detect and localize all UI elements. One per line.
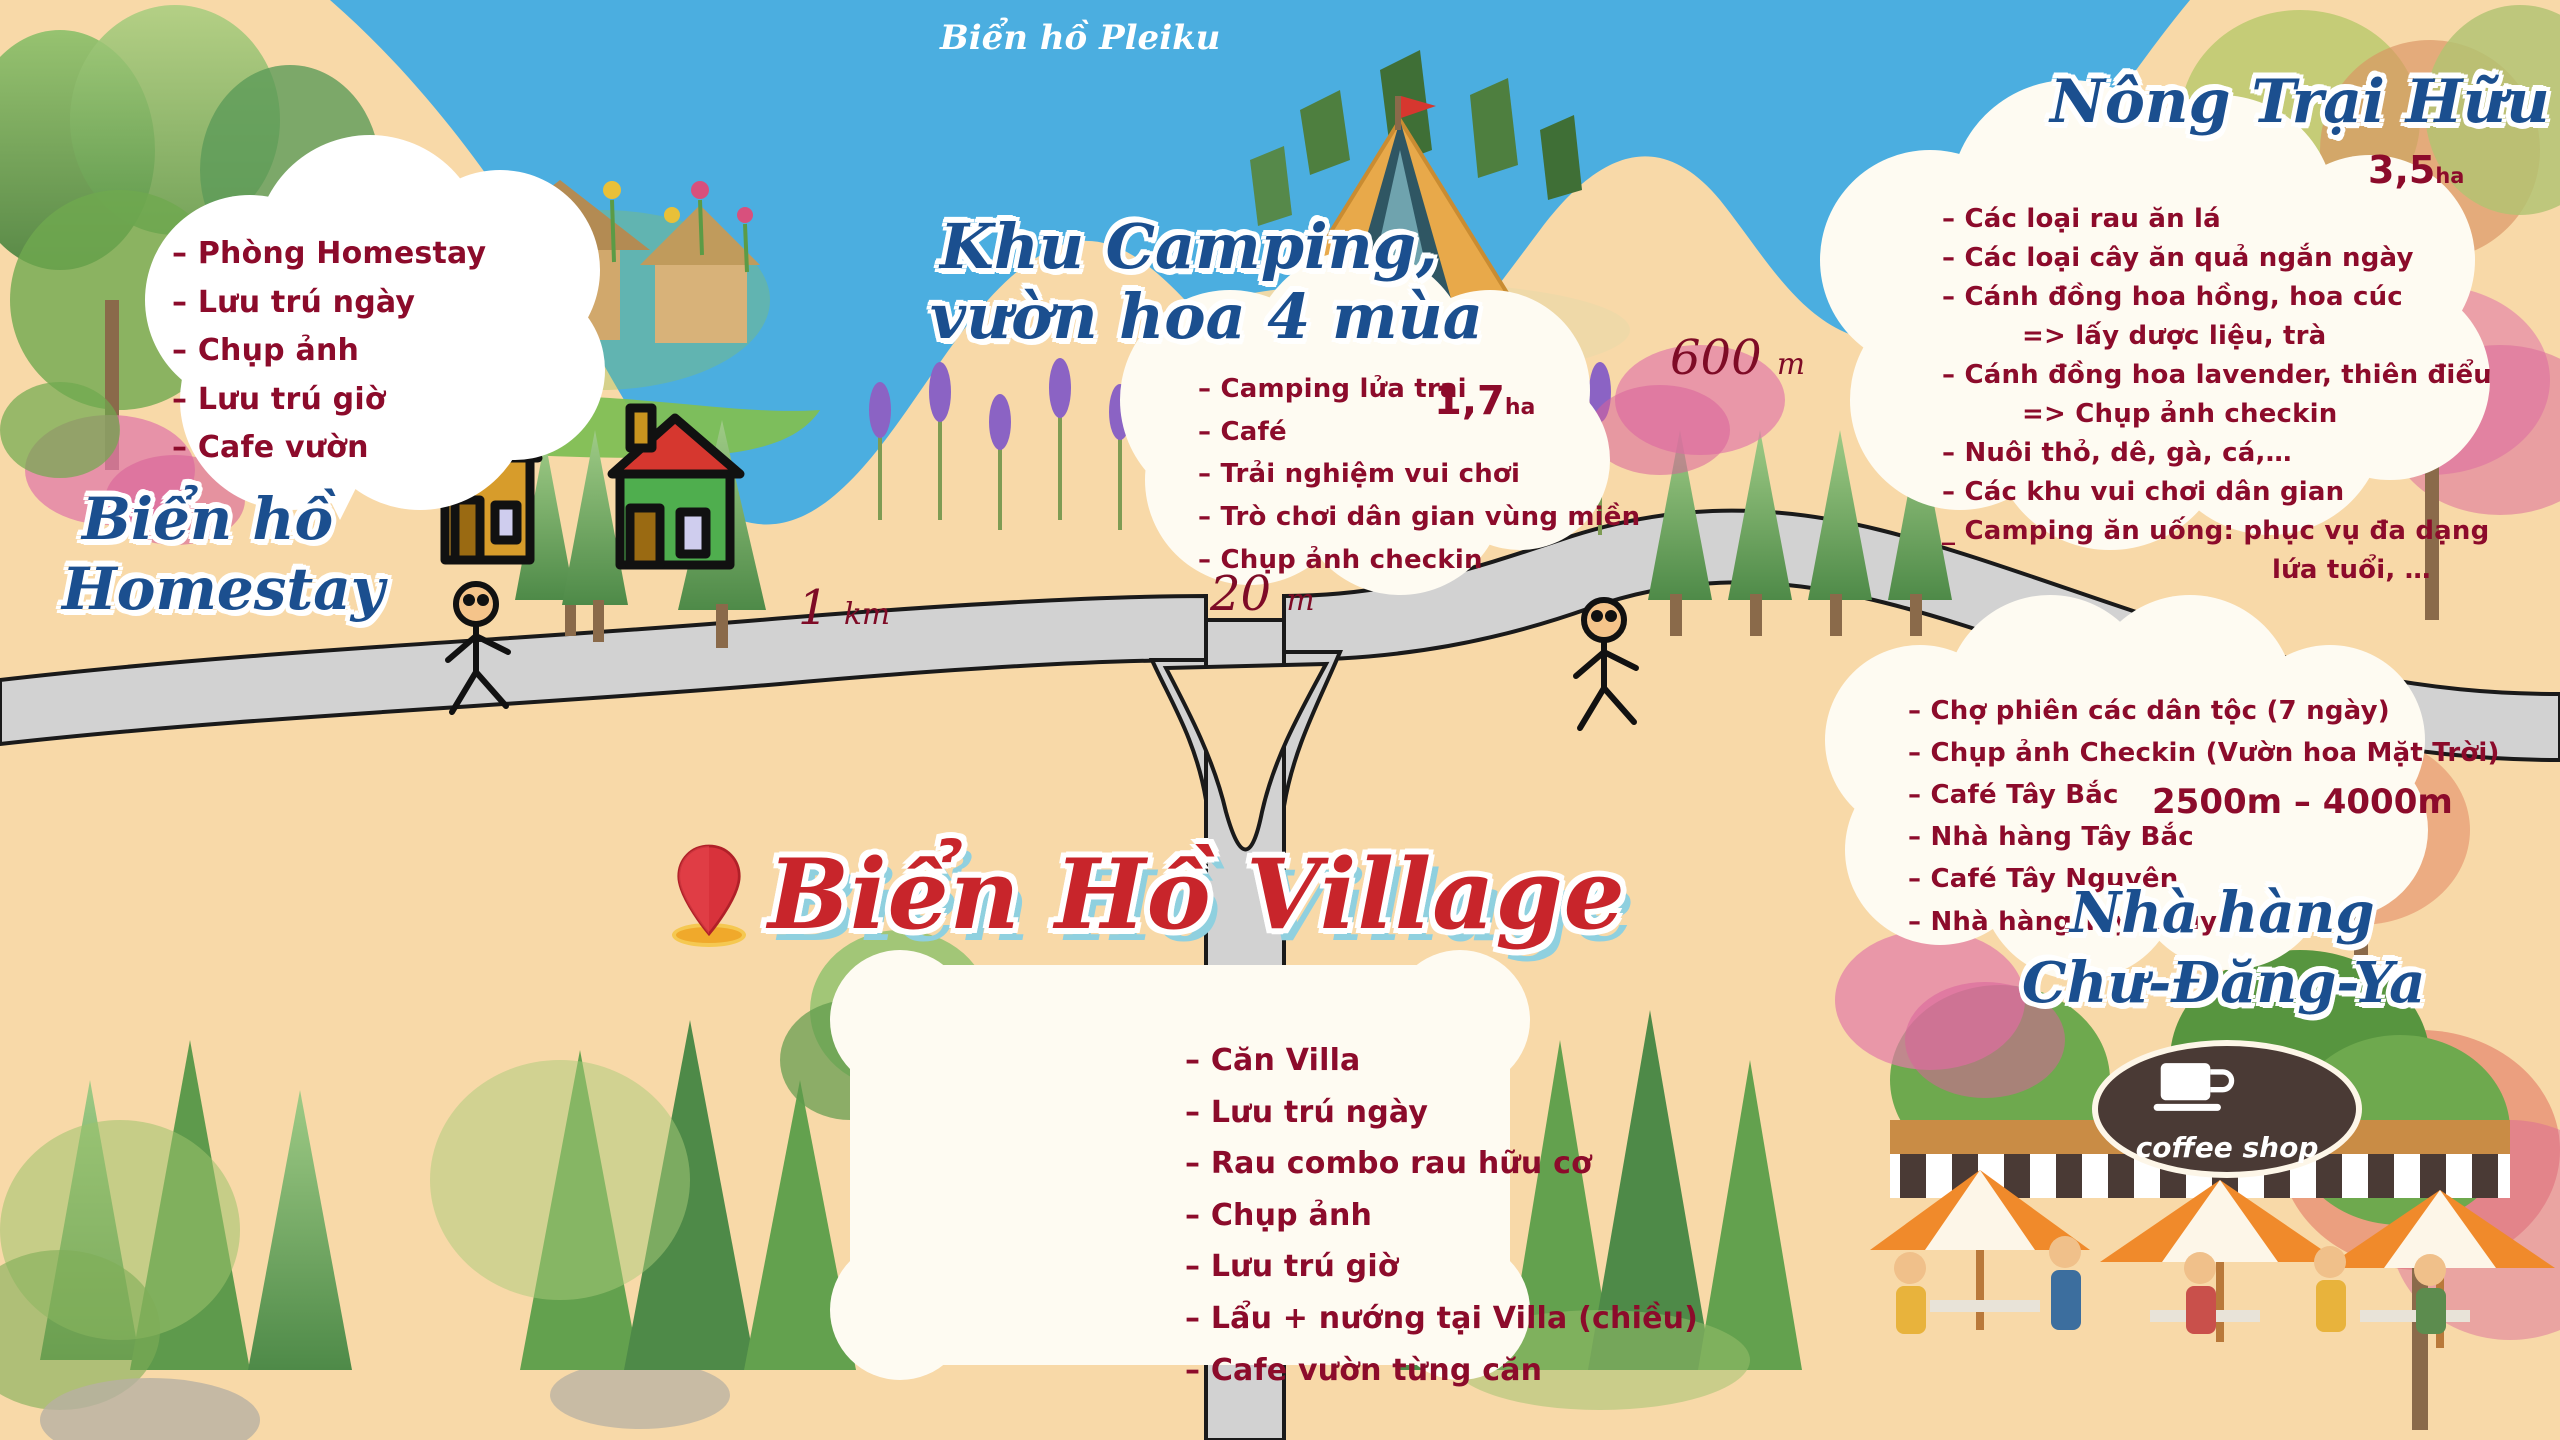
restaurant-title-line1: Nhà hàng [2070, 885, 2375, 942]
homestay-title-line1: Biển hồ [82, 490, 333, 549]
distance-600m-unit: m [1777, 347, 1805, 382]
farm-item-list: – Các loại rau ăn lá – Các loại cây ăn q… [1942, 200, 2492, 590]
camping-title-line2: vườn hoa 4 mùa [930, 285, 1483, 348]
distance-1km-unit: km [844, 597, 890, 632]
list-item: – Nuôi thỏ, dê, gà, cá,… [1942, 434, 2492, 473]
map-canvas: Biển hồ Pleiku – Phòng Homestay – Lưu tr… [0, 0, 2560, 1440]
farm-area-unit: ha [2435, 164, 2464, 188]
camping-area-value: 1,7 [1434, 378, 1505, 424]
list-item: – Chợ phiên các dân tộc (7 ngày) [1908, 690, 2500, 732]
list-item: – Café [1198, 411, 1640, 454]
restaurant-title-line2: Chư-Đăng-Ya [2022, 955, 2425, 1012]
list-item: – Căn Villa [1185, 1035, 1698, 1087]
list-item: – Cafe vườn từng căn [1185, 1345, 1698, 1397]
list-item-sub: => lấy dược liệu, trà [1942, 317, 2492, 356]
list-item-sub: lứa tuổi, … [1942, 551, 2492, 590]
list-item: – Các loại cây ăn quả ngắn ngày [1942, 239, 2492, 278]
list-item: – Trải nghiệm vui chơi [1198, 453, 1640, 496]
farm-area-tag: 3,5ha [2368, 148, 2464, 192]
list-item: – Phòng Homestay [172, 230, 486, 279]
homestay-item-list: – Phòng Homestay – Lưu trú ngày – Chụp ả… [172, 230, 486, 473]
list-item: – Các loại rau ăn lá [1942, 200, 2492, 239]
distance-600m: 600 m [1670, 330, 1805, 386]
list-item: – Chụp ảnh [1185, 1190, 1698, 1242]
coffee-shop-sign: coffee shop [2092, 1040, 2362, 1178]
distance-20m-value: 20 [1210, 566, 1271, 622]
camping-title-line1: Khu Camping, [940, 215, 1438, 278]
villa-callout: – Căn Villa – Lưu trú ngày – Rau combo r… [1185, 1035, 1698, 1396]
homestay-title-line2: Homestay [62, 560, 384, 619]
restaurant-range-tag: 2500m – 4000m [2152, 782, 2453, 822]
camping-area-tag: 1,7ha [1434, 378, 1535, 424]
distance-1km-value: 1 [798, 580, 829, 636]
list-item: – Chụp ảnh Checkin (Vườn hoa Mặt Trời) [1908, 732, 2500, 774]
list-item: – Cánh đồng hoa lavender, thiên điểu [1942, 356, 2492, 395]
list-item: – Lưu trú giờ [172, 376, 486, 425]
homestay-callout: – Phòng Homestay – Lưu trú ngày – Chụp ả… [172, 230, 486, 473]
camping-area-unit: ha [1505, 395, 1536, 420]
list-item: – Lưu trú ngày [1185, 1087, 1698, 1139]
list-item: – Trò chơi dân gian vùng miền [1198, 496, 1640, 539]
camping-callout: – Camping lửa trại – Café – Trải nghiệm … [1198, 368, 1640, 581]
farm-title: Nông Trại Hữu Cơ [2050, 72, 2560, 133]
list-item: – Lưu trú giờ [1185, 1241, 1698, 1293]
farm-area-value: 3,5 [2368, 148, 2435, 192]
list-item: – Nhà hàng Tây Bắc [1908, 816, 2500, 858]
list-item: – Camping lửa trại [1198, 368, 1640, 411]
lake-label: Biển hồ Pleiku [940, 18, 1220, 58]
farm-callout: – Các loại rau ăn lá – Các loại cây ăn q… [1942, 200, 2492, 590]
list-item: – Cánh đồng hoa hồng, hoa cúc [1942, 278, 2492, 317]
villa-item-list: – Căn Villa – Lưu trú ngày – Rau combo r… [1185, 1035, 1698, 1396]
list-item: – Các khu vui chơi dân gian [1942, 473, 2492, 512]
distance-1km: 1 km [798, 580, 890, 636]
coffee-shop-label: coffee shop [2092, 1131, 2362, 1164]
distance-600m-value: 600 [1670, 330, 1762, 386]
list-item: – Rau combo rau hữu cơ [1185, 1138, 1698, 1190]
list-item: – Chụp ảnh [172, 327, 486, 376]
list-item: _ Camping ăn uống: phục vụ đa dạng [1942, 512, 2492, 551]
coffee-cup-icon [2150, 1056, 2260, 1118]
page-title: Biển Hồ Village [672, 838, 1626, 951]
location-pin-icon [672, 843, 746, 947]
distance-20m: 20 m [1210, 566, 1315, 622]
list-item: – Lưu trú ngày [172, 279, 486, 328]
list-item-sub: => Chụp ảnh checkin [1942, 395, 2492, 434]
list-item: – Lẩu + nướng tại Villa (chiều) [1185, 1293, 1698, 1345]
page-title-text: Biển Hồ Village [768, 838, 1626, 951]
list-item: – Cafe vườn [172, 424, 486, 473]
camping-item-list: – Camping lửa trại – Café – Trải nghiệm … [1198, 368, 1640, 581]
distance-20m-unit: m [1286, 583, 1314, 618]
